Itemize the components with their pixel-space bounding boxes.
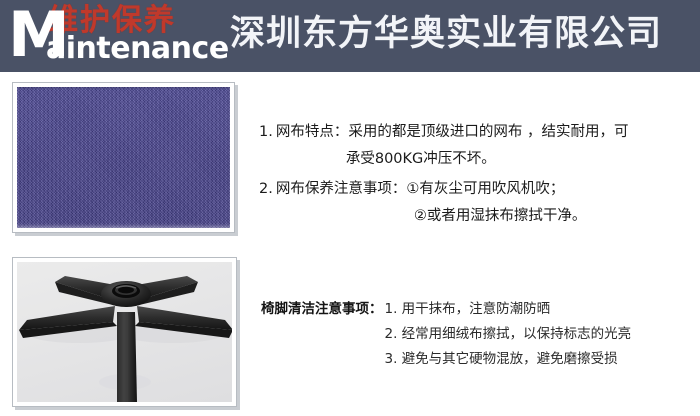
- mesh-note-2: 2. 网布保养注意事项：①有灰尘可用吹风机吹； ②或者用湿抹布擦拭干净。: [259, 176, 695, 230]
- chair-base-photo-background: [17, 262, 232, 402]
- base-care-item-2: 2. 经常用细绒布擦拭，以保持标志的光亮: [385, 322, 698, 347]
- company-name: 深圳东方华奥实业有限公司: [230, 7, 662, 61]
- blue-mesh-fabric-swatch: [17, 87, 230, 228]
- base-care-list: 1. 用干抹布，注意防潮防晒 2. 经常用细绒布擦拭，以保持标志的光亮 3. 避…: [383, 297, 698, 372]
- base-care-item-1: 1. 用干抹布，注意防潮防晒: [385, 297, 698, 322]
- logo-english-text: aintenance: [46, 33, 229, 65]
- chair-base-photo-frame: [12, 257, 237, 407]
- chair-base-photo: [17, 262, 232, 402]
- mesh-note-1-body: 网布特点：采用的都是顶级进口的网布 ，结实耐用，可 承受800KG冲压不坏。: [276, 119, 695, 173]
- base-care-item-3: 3. 避免与其它硬物混放，避免磨擦受损: [385, 347, 698, 372]
- mesh-note-2-number: 2.: [259, 176, 276, 203]
- page-header-band: M 维护保养 aintenance 深圳东方华奥实业有限公司: [0, 0, 700, 72]
- maintenance-logo: M 维护保养 aintenance: [4, 0, 230, 72]
- mesh-notes-block: 1. 网布特点：采用的都是顶级进口的网布 ，结实耐用，可 承受800KG冲压不坏…: [259, 119, 695, 230]
- mesh-note-1-line2: 承受800KG冲压不坏。: [276, 146, 695, 173]
- mesh-fabric-photo-frame: [12, 82, 235, 233]
- base-care-row: 椅脚清洁注意事项： 1. 用干抹布，注意防潮防晒 2. 经常用细绒布擦拭，以保持…: [261, 297, 697, 372]
- base-care-block: 椅脚清洁注意事项： 1. 用干抹布，注意防潮防晒 2. 经常用细绒布擦拭，以保持…: [261, 297, 697, 372]
- mesh-note-1-line1: 采用的都是顶级进口的网布 ，结实耐用，可: [348, 124, 628, 140]
- mesh-note-1: 1. 网布特点：采用的都是顶级进口的网布 ，结实耐用，可 承受800KG冲压不坏…: [259, 119, 695, 173]
- five-star-chair-base-icon: [17, 262, 232, 402]
- mesh-fabric-photo: [17, 87, 230, 228]
- logo-initial-letter: M: [8, 4, 68, 66]
- mesh-note-2-title: 网布保养注意事项：: [276, 181, 407, 197]
- mesh-note-2-body: 网布保养注意事项：①有灰尘可用吹风机吹； ②或者用湿抹布擦拭干净。: [276, 176, 695, 230]
- base-care-heading: 椅脚清洁注意事项：: [261, 297, 383, 322]
- mesh-note-2-line1: ①有灰尘可用吹风机吹；: [406, 181, 564, 197]
- mesh-note-2-line2: ②或者用湿抹布擦拭干净。: [276, 203, 695, 230]
- mesh-note-1-number: 1.: [259, 119, 276, 146]
- mesh-note-1-title: 网布特点：: [276, 124, 349, 140]
